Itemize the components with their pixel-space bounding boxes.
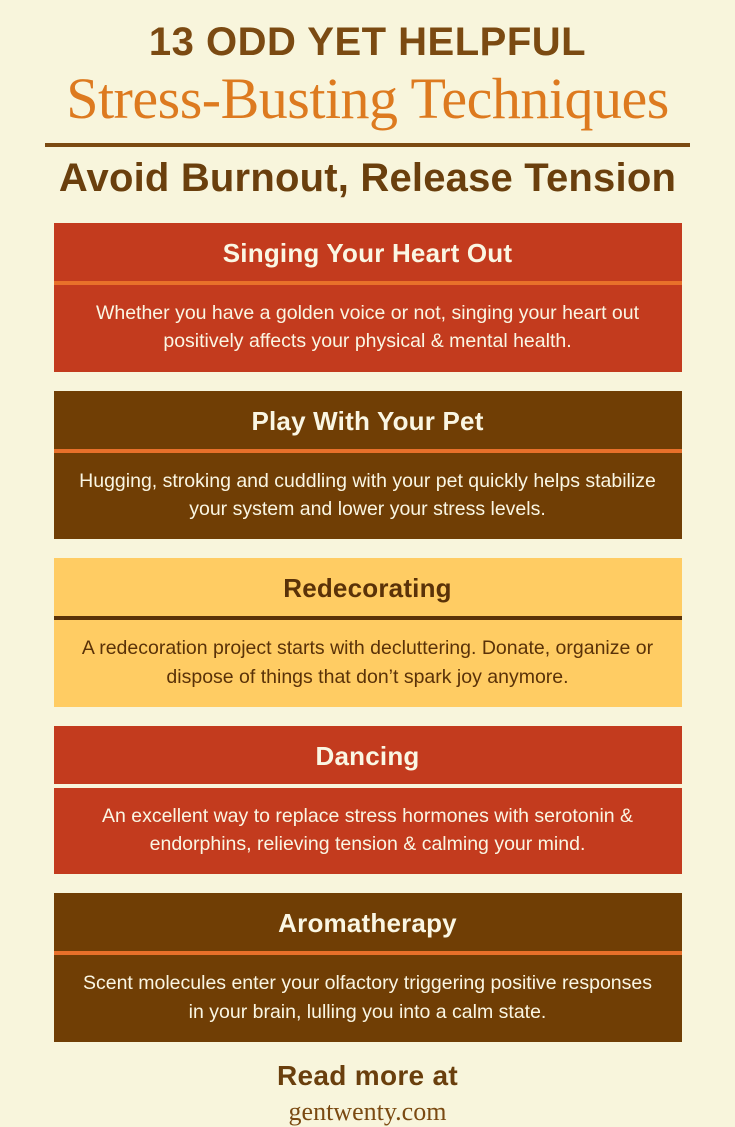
card-title: Aromatherapy — [54, 893, 682, 951]
card-title: Redecorating — [54, 558, 682, 616]
infographic-poster: 13 ODD YET HELPFUL Stress-Busting Techni… — [0, 0, 735, 1103]
header-headline: Stress-Busting Techniques — [14, 68, 721, 131]
card-title: Singing Your Heart Out — [54, 223, 682, 281]
poster-footer: Read more at gentwenty.com — [0, 1061, 735, 1127]
technique-card: Singing Your Heart Out Whether you have … — [54, 223, 682, 372]
header-subhead: Avoid Burnout, Release Tension — [14, 157, 721, 199]
header-kicker: 13 ODD YET HELPFUL — [14, 22, 721, 64]
card-body: A redecoration project starts with declu… — [54, 620, 682, 707]
header-divider-rule — [45, 143, 690, 147]
technique-card: Redecorating A redecoration project star… — [54, 558, 682, 707]
card-body: Hugging, stroking and cuddling with your… — [54, 453, 682, 540]
technique-card: Play With Your Pet Hugging, stroking and… — [54, 391, 682, 540]
card-title: Play With Your Pet — [54, 391, 682, 449]
card-body: Scent molecules enter your olfactory tri… — [54, 955, 682, 1042]
card-body: An excellent way to replace stress hormo… — [54, 788, 682, 875]
technique-card: Dancing An excellent way to replace stre… — [54, 726, 682, 875]
footer-website-link[interactable]: gentwenty.com — [0, 1096, 735, 1127]
card-body: Whether you have a golden voice or not, … — [54, 285, 682, 372]
footer-cta-text: Read more at — [0, 1061, 735, 1092]
poster-header: 13 ODD YET HELPFUL Stress-Busting Techni… — [0, 0, 735, 199]
technique-card-list: Singing Your Heart Out Whether you have … — [0, 223, 735, 1042]
card-title: Dancing — [54, 726, 682, 784]
technique-card: Aromatherapy Scent molecules enter your … — [54, 893, 682, 1042]
